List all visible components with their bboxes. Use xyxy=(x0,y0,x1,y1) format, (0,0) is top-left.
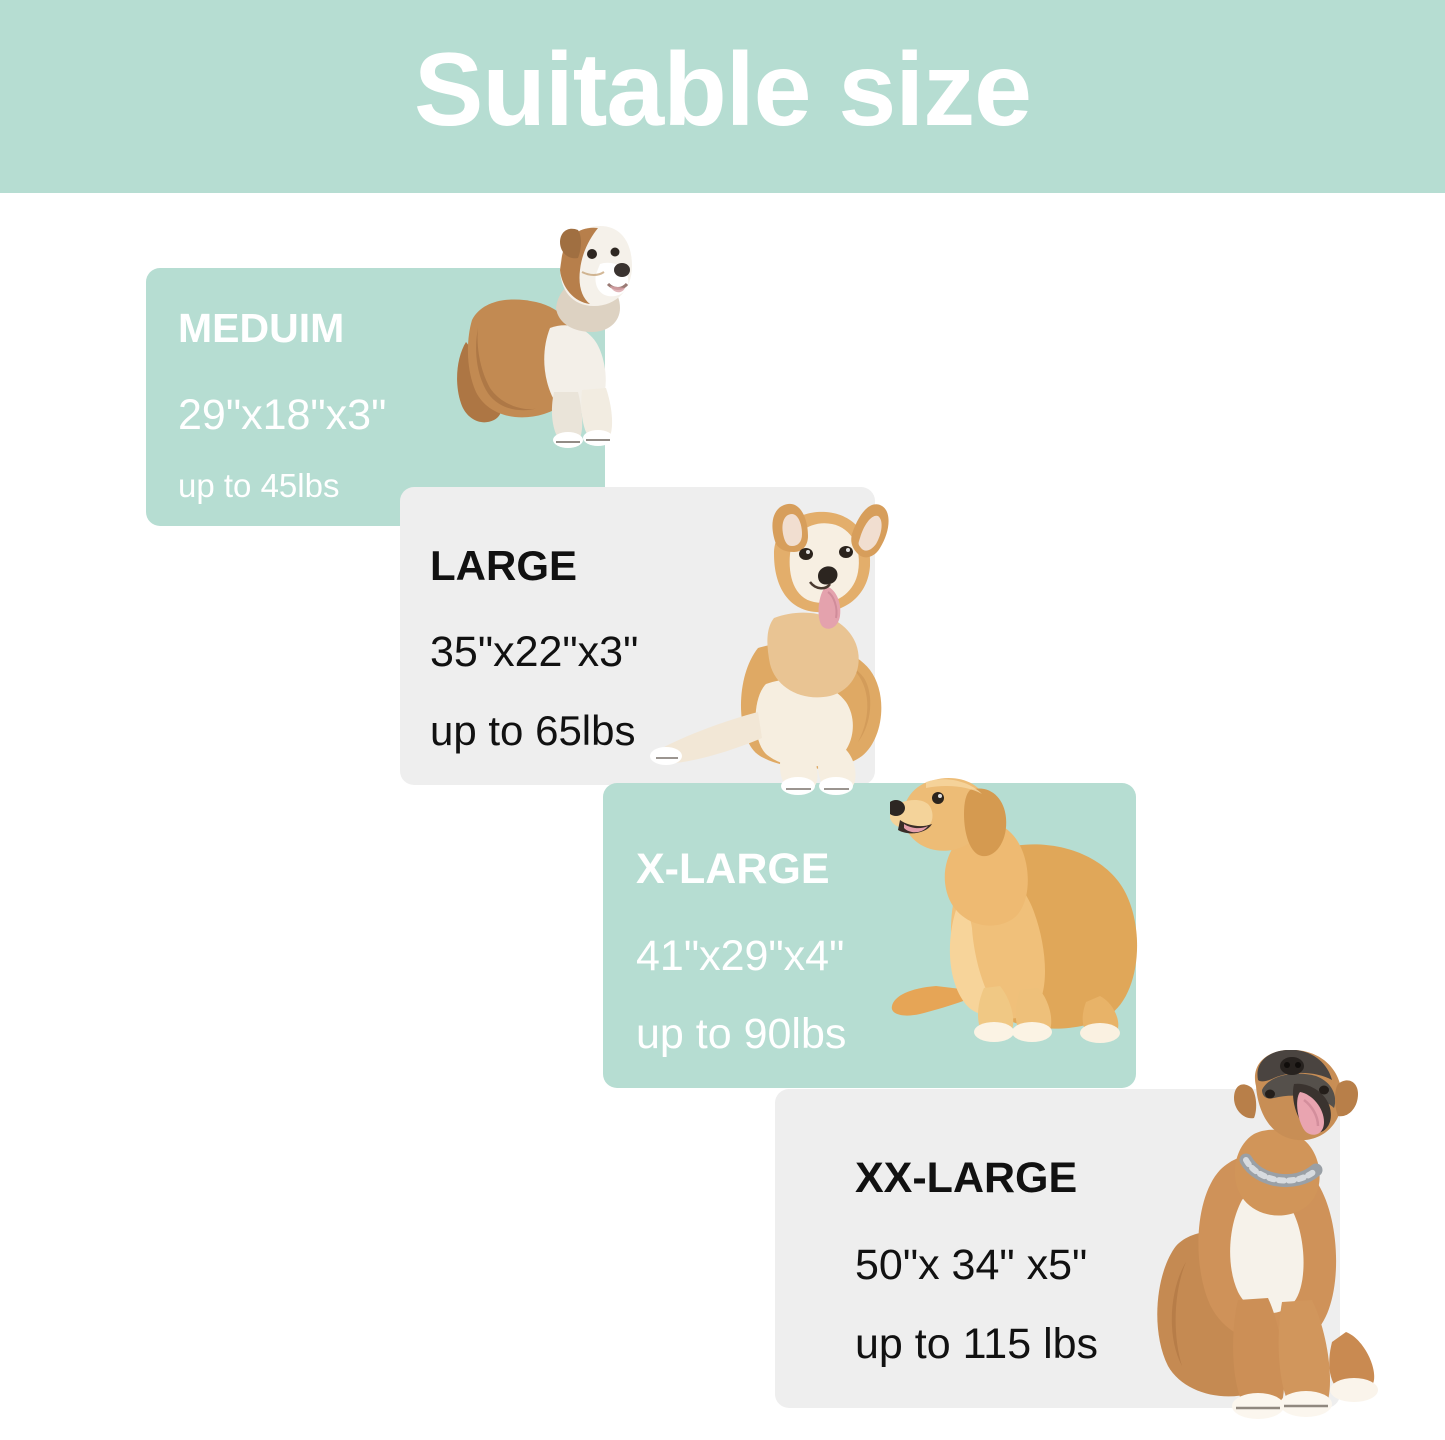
page-title: Suitable size xyxy=(0,36,1445,145)
size-card-xxlarge-name: XX-LARGE xyxy=(855,1157,1098,1200)
size-card-large-dimensions: 35"x22"x3" xyxy=(430,631,638,674)
size-chart-page: Suitable size MEDUIM 29"x18"x3" up to 45… xyxy=(0,0,1445,1440)
size-card-large-text: LARGE 35"x22"x3" up to 65lbs xyxy=(430,545,638,752)
size-card-xlarge-name: X-LARGE xyxy=(636,848,846,891)
size-card-xlarge-weight: up to 90lbs xyxy=(636,1013,846,1056)
size-card-medium-weight: up to 45lbs xyxy=(178,469,386,502)
pitbull-photo xyxy=(1146,1050,1396,1440)
size-card-large-name: LARGE xyxy=(430,545,638,587)
size-card-xxlarge-weight: up to 115 lbs xyxy=(855,1323,1098,1366)
english-bulldog-photo xyxy=(432,216,632,456)
size-card-large-weight: up to 65lbs xyxy=(430,710,638,752)
size-card-xxlarge-text: XX-LARGE 50"x 34" x5" up to 115 lbs xyxy=(855,1157,1098,1366)
size-card-medium-text: MEDUIM 29"x18"x3" up to 45lbs xyxy=(178,308,386,502)
golden-retriever-photo xyxy=(890,740,1160,1050)
size-card-xlarge-text: X-LARGE 41"x29"x4" up to 90lbs xyxy=(636,848,846,1056)
size-card-xlarge-dimensions: 41"x29"x4" xyxy=(636,935,846,978)
size-card-xxlarge-dimensions: 50"x 34" x5" xyxy=(855,1244,1098,1287)
shiba-inu-photo xyxy=(648,498,896,798)
size-card-medium-name: MEDUIM xyxy=(178,308,386,349)
size-card-medium-dimensions: 29"x18"x3" xyxy=(178,394,386,437)
header-banner: Suitable size xyxy=(0,0,1445,193)
